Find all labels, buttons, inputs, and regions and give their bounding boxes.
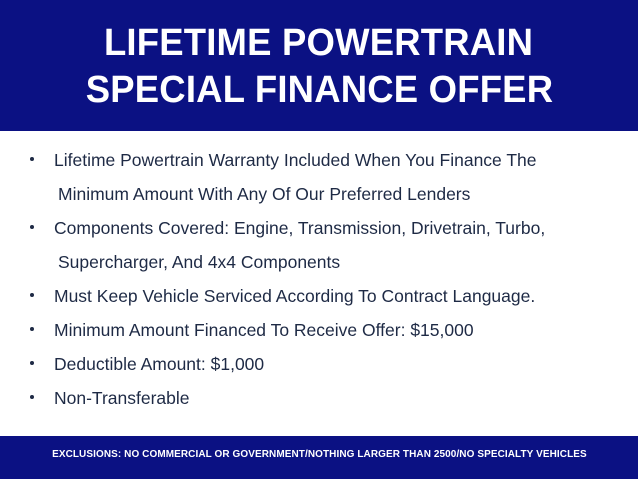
bullet-text-line-2: Minimum Amount With Any Of Our Preferred… (54, 177, 620, 211)
bullet-dot-icon (30, 157, 34, 161)
bullet-text-line-2: Supercharger, And 4x4 Components (54, 245, 620, 279)
list-item: Components Covered: Engine, Transmission… (24, 211, 620, 279)
slide-title-line-2: SPECIAL FINANCE OFFER (85, 67, 553, 114)
bullet-dot-icon (30, 327, 34, 331)
offer-details-list: Lifetime Powertrain Warranty Included Wh… (24, 143, 620, 415)
list-item: Must Keep Vehicle Serviced According To … (24, 279, 620, 313)
bullet-dot-icon (30, 361, 34, 365)
slide-header-banner: LIFETIME POWERTRAIN SPECIAL FINANCE OFFE… (0, 0, 638, 131)
bullet-dot-icon (30, 293, 34, 297)
list-item: Lifetime Powertrain Warranty Included Wh… (24, 143, 620, 211)
slide-title-line-1: LIFETIME POWERTRAIN (104, 20, 533, 67)
bullet-text: Non-Transferable (54, 381, 620, 415)
bullet-text: Lifetime Powertrain Warranty Included Wh… (54, 143, 620, 211)
slide-body: Lifetime Powertrain Warranty Included Wh… (0, 131, 638, 436)
bullet-dot-icon (30, 395, 34, 399)
bullet-text-line-1: Lifetime Powertrain Warranty Included Wh… (54, 150, 536, 170)
bullet-text-line-1: Components Covered: Engine, Transmission… (54, 218, 545, 238)
bullet-text: Must Keep Vehicle Serviced According To … (54, 279, 620, 313)
exclusions-disclaimer: EXCLUSIONS: NO COMMERCIAL OR GOVERNMENT/… (52, 448, 587, 460)
promotional-slide: LIFETIME POWERTRAIN SPECIAL FINANCE OFFE… (0, 0, 638, 479)
slide-footer-banner: EXCLUSIONS: NO COMMERCIAL OR GOVERNMENT/… (0, 436, 638, 479)
list-item: Non-Transferable (24, 381, 620, 415)
bullet-text: Components Covered: Engine, Transmission… (54, 211, 620, 279)
bullet-text: Minimum Amount Financed To Receive Offer… (54, 313, 620, 347)
bullet-text: Deductible Amount: $1,000 (54, 347, 620, 381)
list-item: Deductible Amount: $1,000 (24, 347, 620, 381)
list-item: Minimum Amount Financed To Receive Offer… (24, 313, 620, 347)
bullet-dot-icon (30, 225, 34, 229)
